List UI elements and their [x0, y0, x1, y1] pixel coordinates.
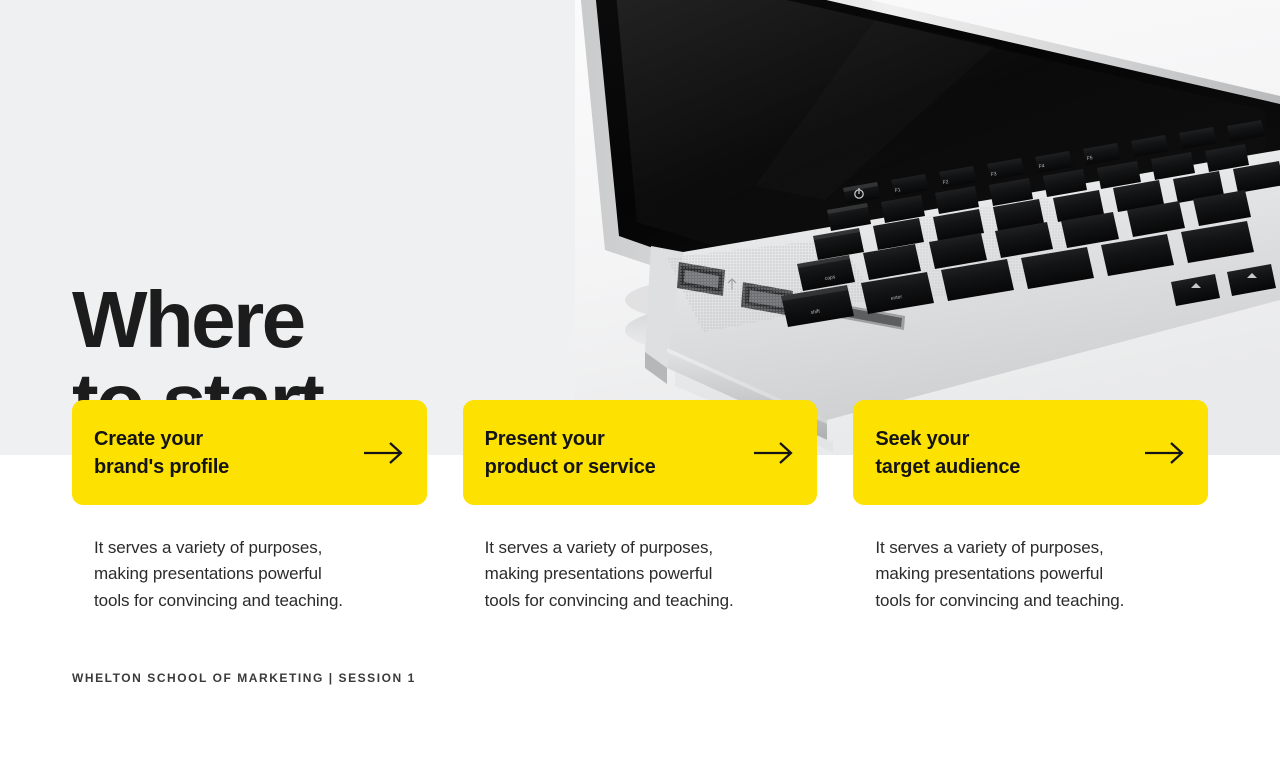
- footer-caption: WHELTON SCHOOL OF MARKETING | SESSION 1: [72, 671, 416, 685]
- feature-card-body: It serves a variety of purposes, making …: [463, 535, 818, 614]
- svg-text:F4: F4: [1038, 163, 1045, 170]
- arrow-right-icon[interactable]: [1144, 440, 1186, 466]
- svg-text:F1: F1: [894, 187, 901, 194]
- feature-card-create-brand-profile[interactable]: Create your brand's profile: [72, 400, 427, 505]
- svg-text:F3: F3: [990, 171, 997, 178]
- feature-card-title: Create your brand's profile: [94, 425, 355, 481]
- laptop-photo: HDMI: [575, 0, 1280, 455]
- feature-card-title: Present your product or service: [485, 425, 746, 481]
- feature-card-body: It serves a variety of purposes, making …: [853, 535, 1208, 614]
- feature-card-present-product-or-service[interactable]: Present your product or service: [463, 400, 818, 505]
- arrow-right-icon[interactable]: [363, 440, 405, 466]
- headline-line-1: Where: [72, 275, 304, 364]
- feature-card-seek-target-audience[interactable]: Seek your target audience: [853, 400, 1208, 505]
- feature-cards: Create your brand's profile It serves a …: [72, 400, 1208, 614]
- feature-column-3: Seek your target audience It serves a va…: [853, 400, 1208, 614]
- laptop-photo-illustration: HDMI: [575, 0, 1280, 455]
- feature-column-2: Present your product or service It serve…: [463, 400, 818, 614]
- feature-column-1: Create your brand's profile It serves a …: [72, 400, 427, 614]
- feature-card-body: It serves a variety of purposes, making …: [72, 535, 427, 614]
- svg-text:F2: F2: [942, 179, 949, 186]
- slide: HDMI: [0, 0, 1280, 769]
- svg-text:F5: F5: [1086, 155, 1093, 162]
- feature-card-title: Seek your target audience: [875, 425, 1136, 481]
- arrow-right-icon[interactable]: [753, 440, 795, 466]
